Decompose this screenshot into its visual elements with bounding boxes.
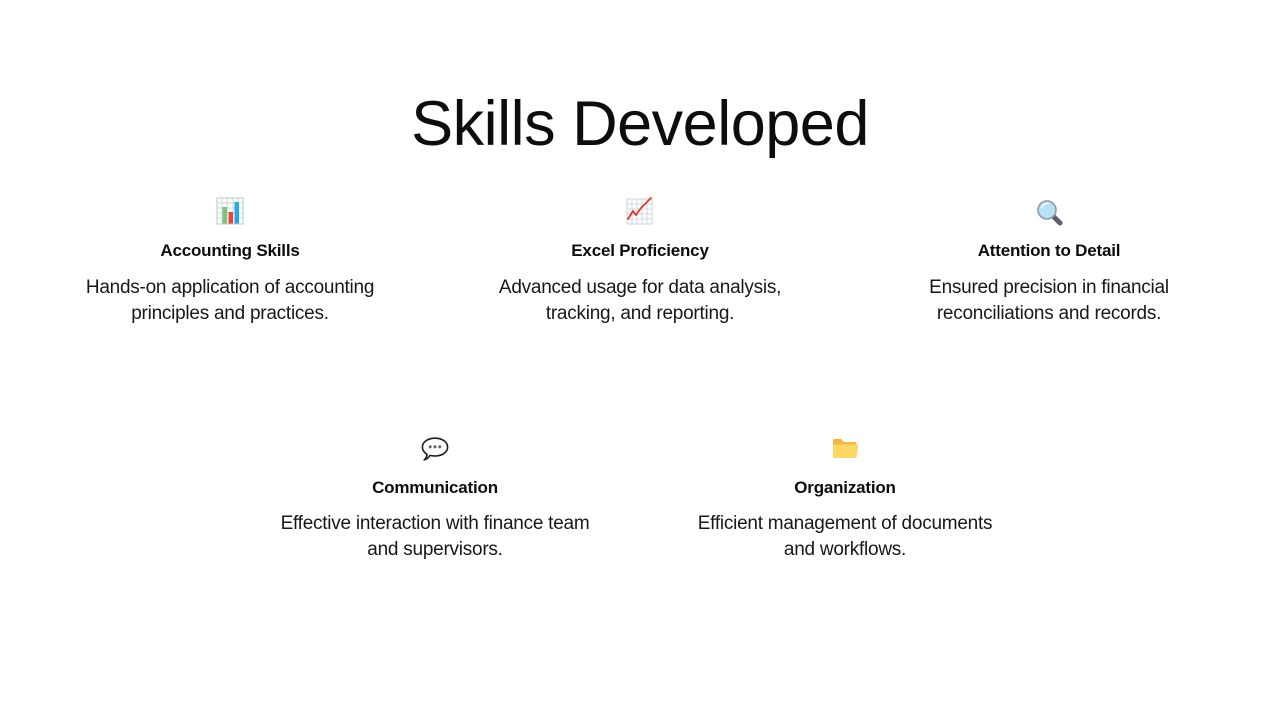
bar-chart-icon <box>75 190 385 234</box>
page-title: Skills Developed <box>0 88 1280 160</box>
line-chart-icon <box>485 190 795 234</box>
skill-card-excel-proficiency: Excel Proficiency Advanced usage for dat… <box>485 190 795 327</box>
card-body-text: Ensured precision in financial reconcili… <box>894 275 1204 327</box>
skill-card-accounting-skills: Accounting Skills Hands-on application o… <box>75 190 385 327</box>
open-folder-icon <box>690 427 1000 471</box>
skill-card-attention-to-detail: Attention to Detail Ensured precision in… <box>894 190 1204 327</box>
card-body-text: Effective interaction with finance team … <box>280 511 590 563</box>
slide-canvas: Skills Developed <box>0 0 1280 720</box>
card-heading: Accounting Skills <box>75 240 385 261</box>
card-heading: Communication <box>280 477 590 498</box>
card-body-text: Advanced usage for data analysis, tracki… <box>485 275 795 327</box>
card-body-text: Hands-on application of accounting princ… <box>75 275 385 327</box>
card-heading: Excel Proficiency <box>485 240 795 261</box>
speech-balloon-icon <box>280 427 590 471</box>
skill-card-communication: Communication Effective interaction with… <box>280 427 590 563</box>
card-heading: Organization <box>690 477 1000 498</box>
card-heading: Attention to Detail <box>894 240 1204 261</box>
magnifying-glass-icon <box>894 190 1204 234</box>
skill-card-organization: Organization Efficient management of doc… <box>690 427 1000 563</box>
card-body-text: Efficient management of documents and wo… <box>690 511 1000 563</box>
